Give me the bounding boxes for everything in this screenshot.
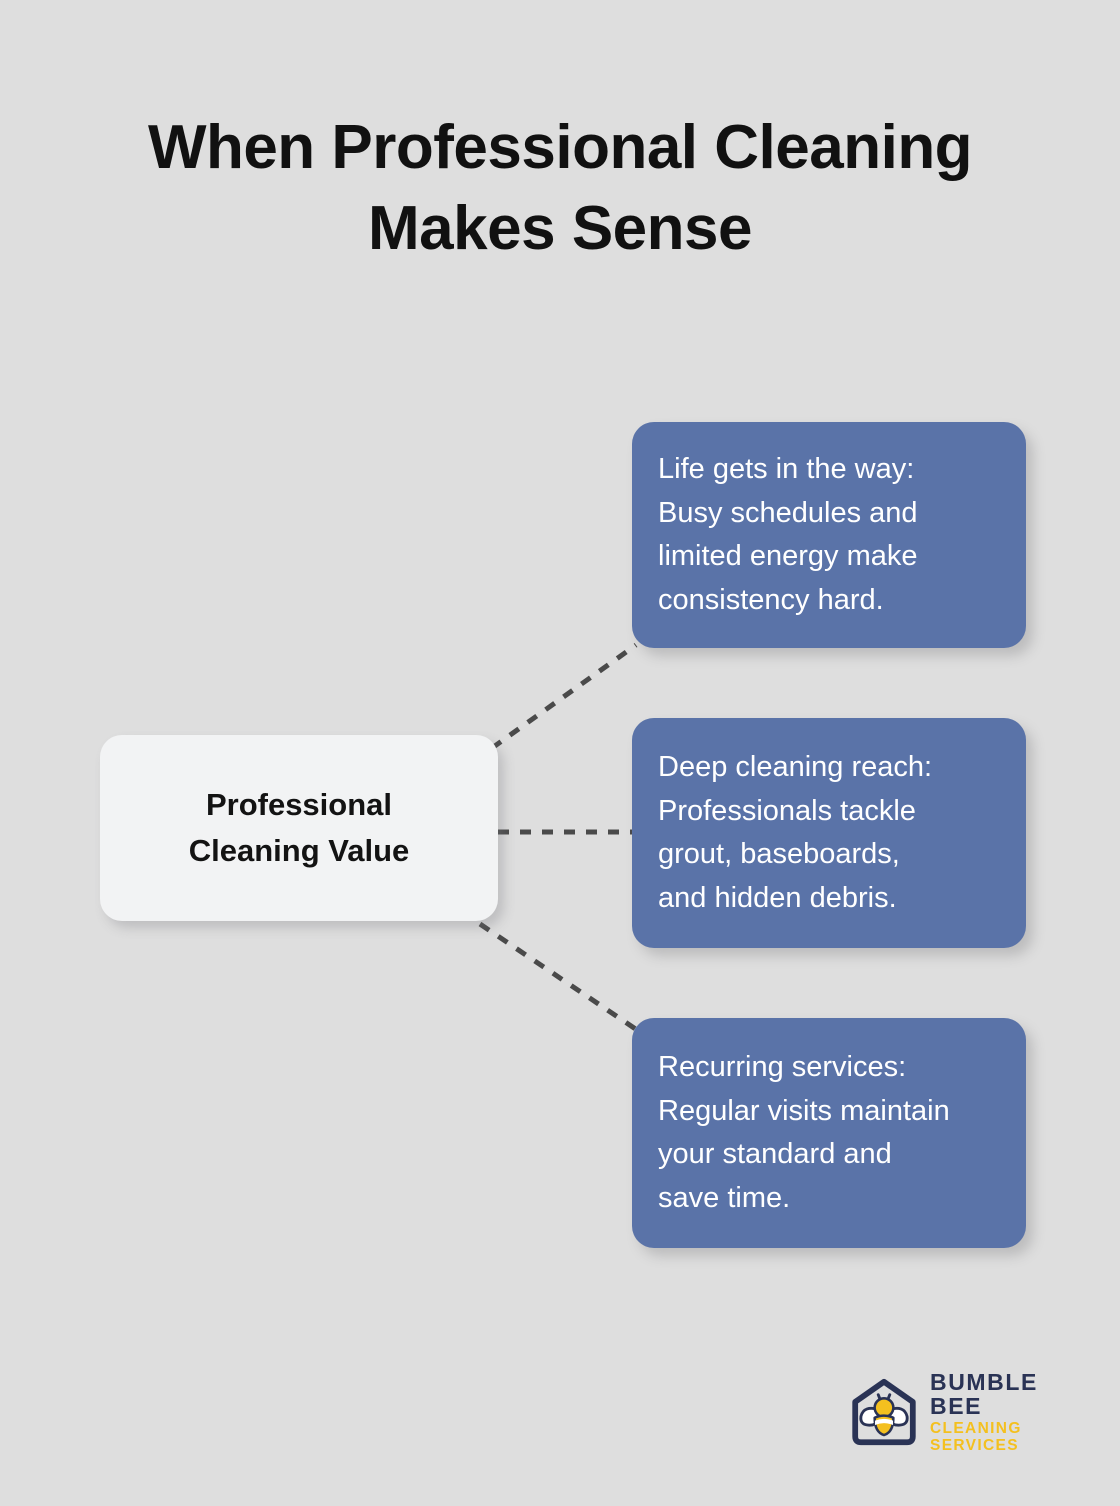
branch-card-3[interactable]: Recurring services: Regular visits maint… xyxy=(632,1018,1026,1248)
center-node[interactable]: Professional Cleaning Value xyxy=(100,735,498,921)
center-node-label-line-1: Professional xyxy=(189,782,410,828)
branch-card-2-line-3: grout, baseboards, xyxy=(658,833,932,877)
branch-card-1-line-1: Life gets in the way: xyxy=(658,448,918,492)
branch-card-2-text: Deep cleaning reach: Professionals tackl… xyxy=(632,746,958,920)
branch-card-3-line-2: Regular visits maintain xyxy=(658,1090,950,1134)
page-title-line-1: When Professional Cleaning xyxy=(60,108,1060,189)
branch-card-3-line-1: Recurring services: xyxy=(658,1046,950,1090)
page-title-line-2: Makes Sense xyxy=(60,189,1060,270)
branch-card-1-line-3: limited energy make xyxy=(658,535,918,579)
branch-card-2-line-2: Professionals tackle xyxy=(658,790,932,834)
house-bee-icon xyxy=(848,1376,920,1448)
logo-wordmark: BUMBLE BEE CLEANING SERVICES xyxy=(930,1370,1070,1455)
branch-card-2-line-4: and hidden debris. xyxy=(658,877,932,921)
logo-primary-text: BUMBLE BEE xyxy=(930,1370,1070,1419)
branch-card-1-line-4: consistency hard. xyxy=(658,579,918,623)
page-title: When Professional Cleaning Makes Sense xyxy=(60,108,1060,269)
branch-card-1-text: Life gets in the way: Busy schedules and… xyxy=(632,448,944,622)
center-node-label: Professional Cleaning Value xyxy=(167,782,432,874)
branch-card-3-line-4: save time. xyxy=(658,1177,950,1221)
branch-card-3-line-3: your standard and xyxy=(658,1133,950,1177)
branch-card-1[interactable]: Life gets in the way: Busy schedules and… xyxy=(632,422,1026,648)
branch-card-3-text: Recurring services: Regular visits maint… xyxy=(632,1046,976,1220)
center-node-label-line-2: Cleaning Value xyxy=(189,828,410,874)
brand-logo[interactable]: BUMBLE BEE CLEANING SERVICES xyxy=(848,1374,1070,1450)
connector-to-branch-3 xyxy=(480,924,640,1032)
infographic-canvas: When Professional Cleaning Makes Sense P… xyxy=(0,0,1120,1506)
branch-card-1-line-2: Busy schedules and xyxy=(658,492,918,536)
logo-secondary-text: CLEANING SERVICES xyxy=(930,1420,1070,1454)
branch-card-2[interactable]: Deep cleaning reach: Professionals tackl… xyxy=(632,718,1026,948)
branch-card-2-line-1: Deep cleaning reach: xyxy=(658,746,932,790)
connector-to-branch-1 xyxy=(492,645,636,748)
